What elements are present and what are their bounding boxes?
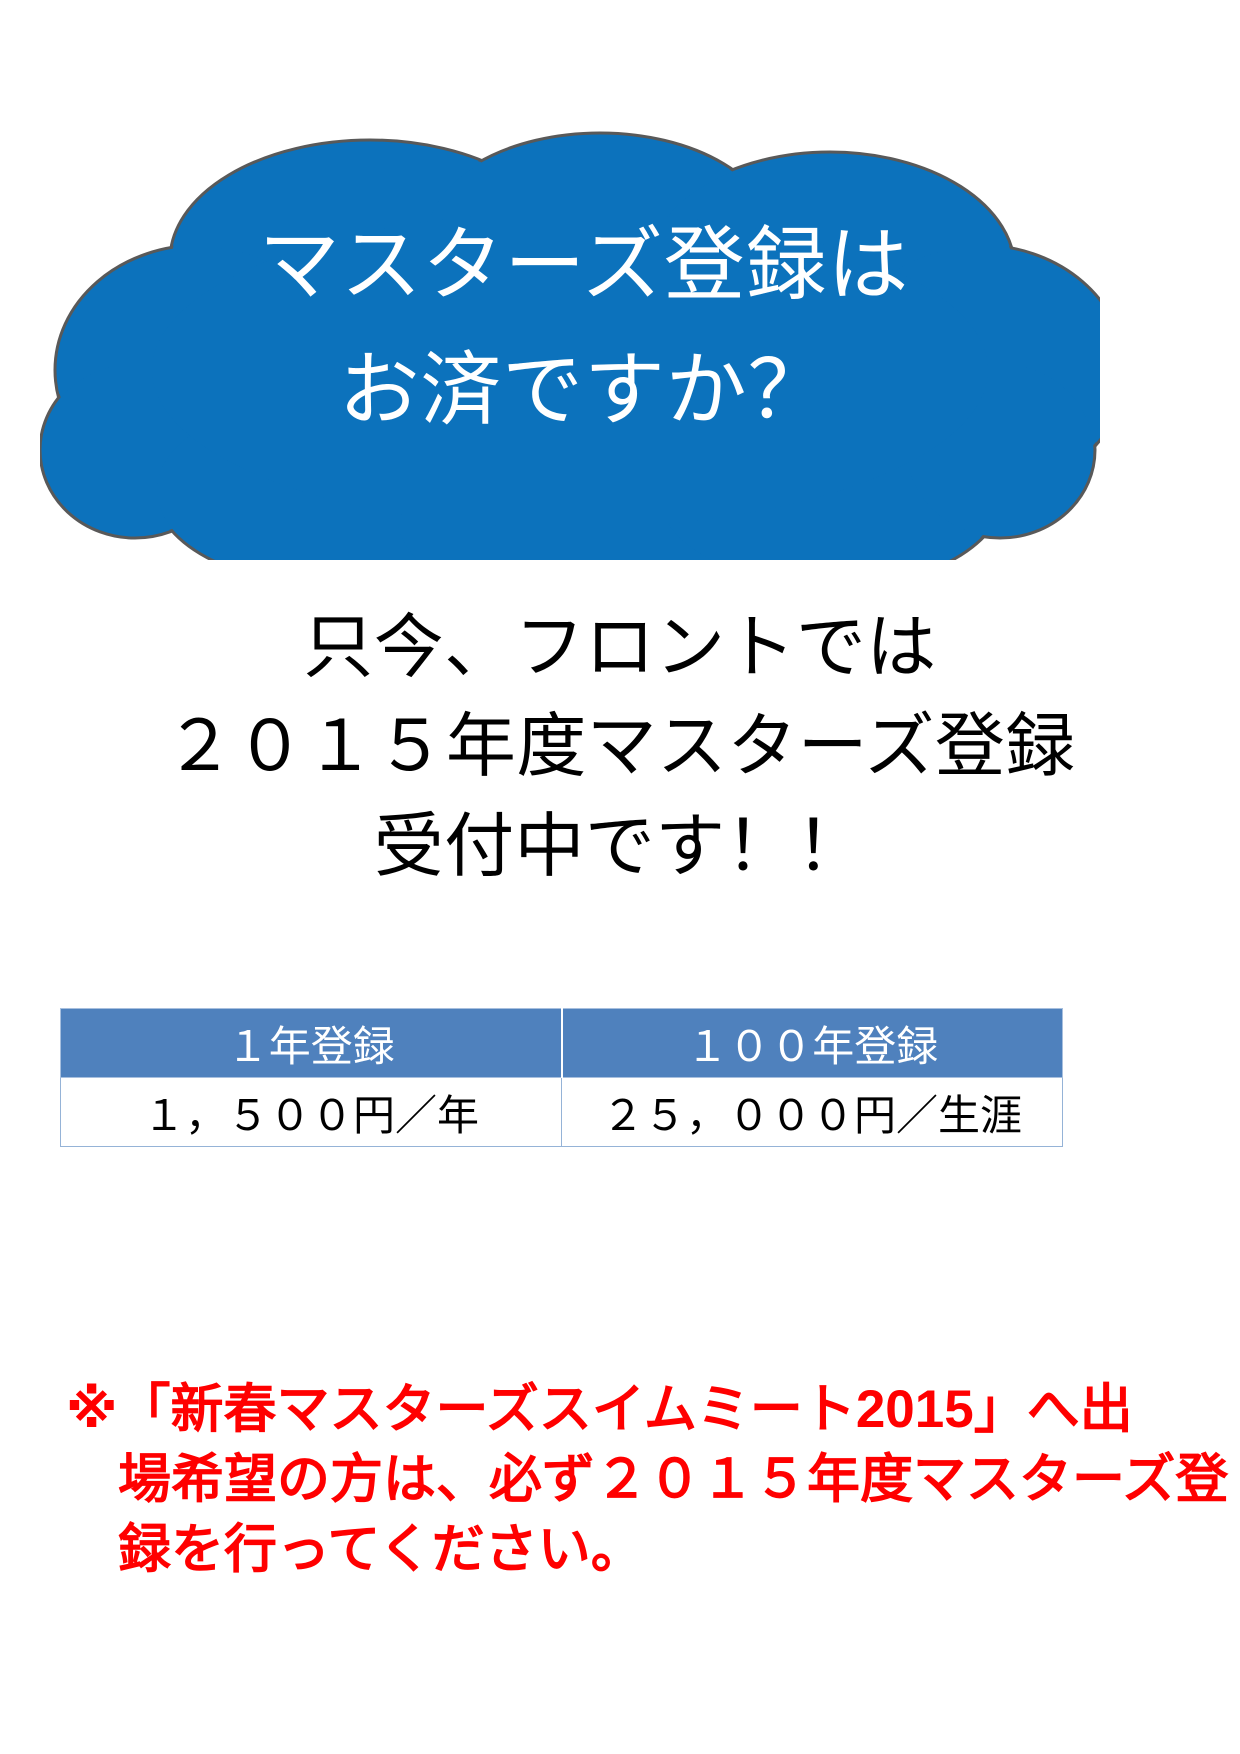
price-table: １年登録 １００年登録 １，５００円／年 ２５，０００円／生涯: [60, 1008, 1063, 1147]
cloud-headline-line-1: マスターズ登録は: [259, 209, 909, 324]
announcement-line-3: 受付中です！！: [0, 797, 1240, 896]
poster-page: マスターズ登録は お済ですか？ 只今、フロントでは ２０１５年度マスターズ登録 …: [0, 0, 1240, 1754]
table-header-hundred-year: １００年登録: [562, 1009, 1063, 1078]
announcement-line-1: 只今、フロントでは: [0, 598, 1240, 697]
note-line-3: 録を行ってください。: [66, 1515, 1176, 1585]
announcement-block: 只今、フロントでは ２０１５年度マスターズ登録 受付中です！！: [0, 598, 1240, 896]
cloud-text-block: マスターズ登録は お済ですか？: [40, 120, 1100, 560]
table-cell-one-year-price: １，５００円／年: [61, 1078, 562, 1147]
cloud-callout: マスターズ登録は お済ですか？: [40, 120, 1100, 560]
cloud-headline-line-2: お済ですか？: [339, 334, 830, 449]
table-row: １，５００円／年 ２５，０００円／生涯: [61, 1078, 1063, 1147]
note-block: ※「新春マスターズスイムミート2015」へ出 場希望の方は、必ず２０１５年度マス…: [66, 1375, 1176, 1585]
table-header-one-year: １年登録: [61, 1009, 562, 1078]
note-line-2: 場希望の方は、必ず２０１５年度マスターズ登: [66, 1445, 1176, 1515]
table-cell-hundred-year-price: ２５，０００円／生涯: [562, 1078, 1063, 1147]
note-line-1: ※「新春マスターズスイムミート2015」へ出: [66, 1375, 1176, 1445]
table-header-row: １年登録 １００年登録: [61, 1009, 1063, 1078]
announcement-line-2: ２０１５年度マスターズ登録: [0, 697, 1240, 796]
